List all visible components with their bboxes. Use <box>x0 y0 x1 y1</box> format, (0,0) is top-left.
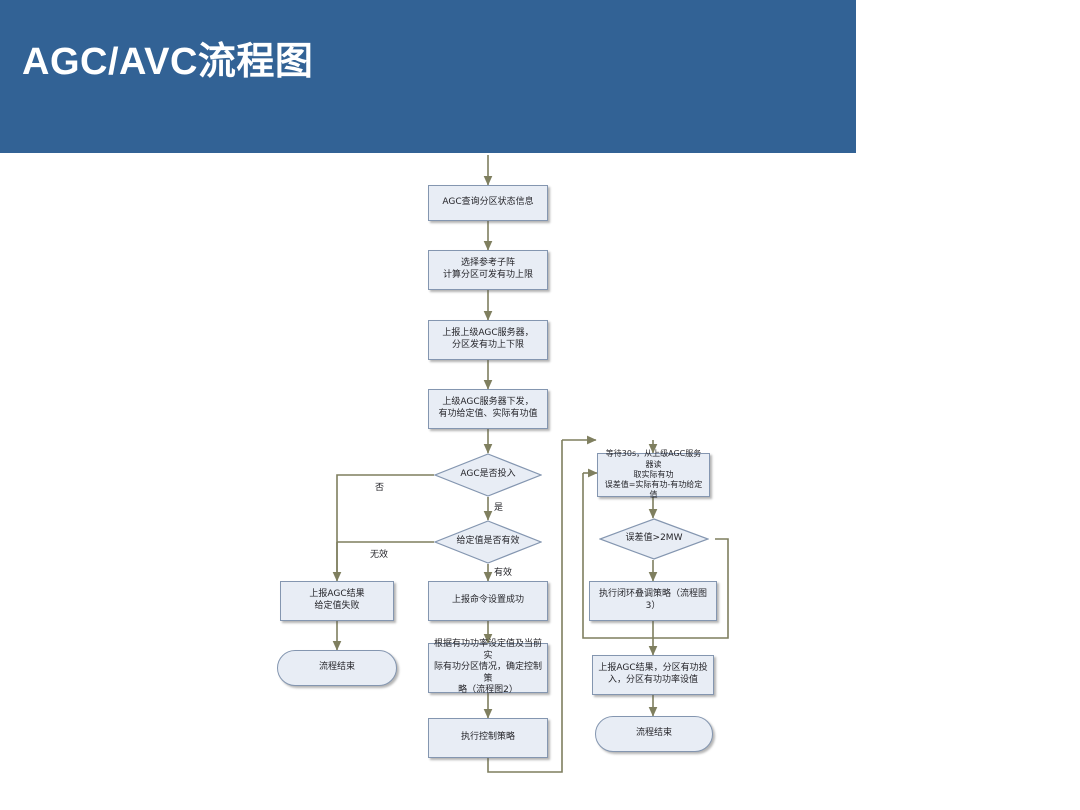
node-end-right[interactable]: 流程结束 <box>595 716 713 752</box>
node-determine-strategy-line1: 根据有功功率设定值及当前实 <box>429 639 547 662</box>
node-end-left[interactable]: 流程结束 <box>277 650 397 686</box>
node-execute-strategy[interactable]: 执行控制策略 <box>428 718 548 758</box>
node-execute-strategy-label: 执行控制策略 <box>457 732 519 744</box>
title-banner: AGC/AVC流程图 <box>0 0 856 153</box>
flowchart-canvas: AGC查询分区状态信息 选择参考子阵 计算分区可发有功上限 上报上级AGC服务器… <box>0 153 1080 810</box>
node-report-result[interactable]: 上报AGC结果，分区有功投 入，分区有功功率设值 <box>592 655 714 695</box>
node-select-reference[interactable]: 选择参考子阵 计算分区可发有功上限 <box>428 250 548 290</box>
node-wait-read[interactable]: 等待30s，从上级AGC服务器读 取实际有功 误差值=实际有功-有功给定值 <box>597 453 710 497</box>
node-error-gt-2mw[interactable]: 误差值>2MW <box>599 518 709 560</box>
node-wait-read-line3: 误差值=实际有功-有功给定值 <box>598 480 709 500</box>
node-report-limits[interactable]: 上报上级AGC服务器， 分区发有功上下限 <box>428 320 548 360</box>
node-report-result-line1: 上报AGC结果，分区有功投 <box>594 663 711 675</box>
node-wait-read-line2: 取实际有功 <box>630 470 678 480</box>
node-wait-read-line1: 等待30s，从上级AGC服务器读 <box>598 449 709 469</box>
node-end-right-label: 流程结束 <box>632 728 676 740</box>
node-closed-loop[interactable]: 执行闭环叠调策略（流程图3） <box>589 581 717 621</box>
node-report-fail-line1: 上报AGC结果 <box>305 589 368 601</box>
node-error-gt-2mw-label: 误差值>2MW <box>599 518 709 560</box>
page-title: AGC/AVC流程图 <box>22 30 313 85</box>
node-receive-setpoint-line2: 有功给定值、实际有功值 <box>434 409 541 421</box>
node-receive-setpoint[interactable]: 上级AGC服务器下发， 有功给定值、实际有功值 <box>428 389 548 429</box>
node-agc-enabled-label: AGC是否投入 <box>434 453 542 497</box>
edge-agc-no <box>337 475 434 578</box>
node-report-fail-line2: 给定值失败 <box>310 601 363 613</box>
node-select-reference-line1: 选择参考子阵 <box>457 258 519 270</box>
edge-label-setpoint-valid: 有效 <box>494 565 512 578</box>
node-report-limits-line2: 分区发有功上下限 <box>448 340 528 352</box>
node-setpoint-valid-label: 给定值是否有效 <box>434 520 542 564</box>
node-closed-loop-label: 执行闭环叠调策略（流程图3） <box>590 589 716 612</box>
node-query-status[interactable]: AGC查询分区状态信息 <box>428 185 548 221</box>
node-determine-strategy-line2: 际有功分区情况，确定控制策 <box>429 662 547 685</box>
node-report-success-label: 上报命令设置成功 <box>448 595 528 607</box>
node-determine-strategy-line3: 略（流程图2） <box>454 685 522 697</box>
node-receive-setpoint-line1: 上级AGC服务器下发， <box>438 397 537 409</box>
node-report-result-line2: 入，分区有功功率设值 <box>604 675 702 687</box>
node-report-fail[interactable]: 上报AGC结果 给定值失败 <box>280 581 394 621</box>
node-setpoint-valid[interactable]: 给定值是否有效 <box>434 520 542 564</box>
edge-label-agc-no: 否 <box>375 480 384 493</box>
edge-label-setpoint-invalid: 无效 <box>370 547 388 560</box>
node-query-status-label: AGC查询分区状态信息 <box>438 197 537 209</box>
node-report-success[interactable]: 上报命令设置成功 <box>428 581 548 621</box>
node-determine-strategy[interactable]: 根据有功功率设定值及当前实 际有功分区情况，确定控制策 略（流程图2） <box>428 643 548 693</box>
node-report-limits-line1: 上报上级AGC服务器， <box>438 328 537 340</box>
node-select-reference-line2: 计算分区可发有功上限 <box>439 270 537 282</box>
edge-label-agc-yes: 是 <box>494 500 503 513</box>
node-agc-enabled[interactable]: AGC是否投入 <box>434 453 542 497</box>
node-end-left-label: 流程结束 <box>315 662 359 674</box>
